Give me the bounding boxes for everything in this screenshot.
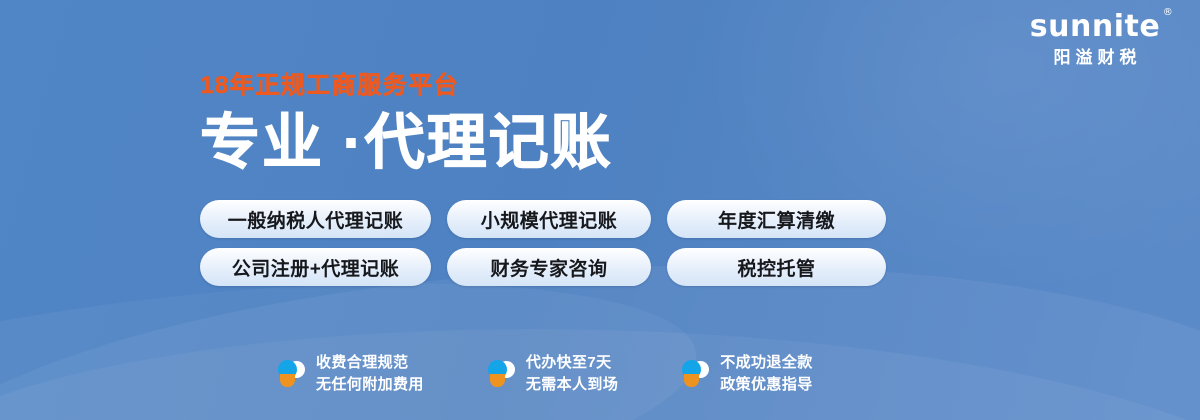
logo-chinese-name: 阳溢财税 xyxy=(1010,49,1180,66)
service-pill[interactable]: 一般纳税人代理记账 xyxy=(200,200,431,238)
feature-line-1: 代办快至7天 xyxy=(526,354,612,371)
bullet-badge-icon xyxy=(276,357,306,391)
feature-line-2: 政策优惠指导 xyxy=(720,376,812,393)
feature-text: 收费合理规范 无任何附加费用 xyxy=(316,352,424,396)
service-pill[interactable]: 财务专家咨询 xyxy=(447,248,651,286)
feature-text: 代办快至7天 无需本人到场 xyxy=(526,352,618,396)
badge-orange-base xyxy=(280,374,295,387)
service-pill[interactable]: 年度汇算清缴 xyxy=(667,200,886,238)
eyebrow-text: 18年正规工商服务平台 xyxy=(200,73,613,99)
badge-orange-base xyxy=(684,374,699,387)
service-pill[interactable]: 公司注册+代理记账 xyxy=(200,248,431,286)
feature-list: 收费合理规范 无任何附加费用 代办快至7天 无需本人到场 不成功退全款 xyxy=(276,352,813,396)
headline-area: 18年正规工商服务平台 专业 ·代理记账 xyxy=(200,73,613,174)
feature-item: 代办快至7天 无需本人到场 xyxy=(486,352,618,396)
feature-line-1: 不成功退全款 xyxy=(720,354,812,371)
service-pill-row: 一般纳税人代理记账 小规模代理记账 年度汇算清缴 xyxy=(200,200,886,238)
service-pill[interactable]: 税控托管 xyxy=(667,248,886,286)
promo-banner: sunnite ® 阳溢财税 18年正规工商服务平台 专业 ·代理记账 一般纳税… xyxy=(0,0,1200,420)
registered-trademark-icon: ® xyxy=(1163,8,1174,18)
logo-wordmark-text: sunnite xyxy=(1030,9,1160,44)
badge-orange-base xyxy=(490,374,505,387)
bullet-badge-icon xyxy=(486,357,516,391)
service-pill-row: 公司注册+代理记账 财务专家咨询 税控托管 xyxy=(200,248,886,286)
service-pill[interactable]: 小规模代理记账 xyxy=(447,200,651,238)
feature-line-2: 无任何附加费用 xyxy=(316,376,424,393)
feature-text: 不成功退全款 政策优惠指导 xyxy=(720,352,812,396)
feature-line-1: 收费合理规范 xyxy=(316,354,408,371)
feature-item: 收费合理规范 无任何附加费用 xyxy=(276,352,424,396)
feature-item: 不成功退全款 政策优惠指导 xyxy=(680,352,812,396)
page-title: 专业 ·代理记账 xyxy=(200,111,613,174)
bullet-badge-icon xyxy=(680,357,710,391)
brand-logo[interactable]: sunnite ® 阳溢财税 xyxy=(1010,12,1180,66)
feature-line-2: 无需本人到场 xyxy=(526,376,618,393)
service-pill-grid: 一般纳税人代理记账 小规模代理记账 年度汇算清缴 公司注册+代理记账 财务专家咨… xyxy=(200,200,886,286)
logo-wordmark: sunnite ® xyxy=(1030,12,1160,42)
